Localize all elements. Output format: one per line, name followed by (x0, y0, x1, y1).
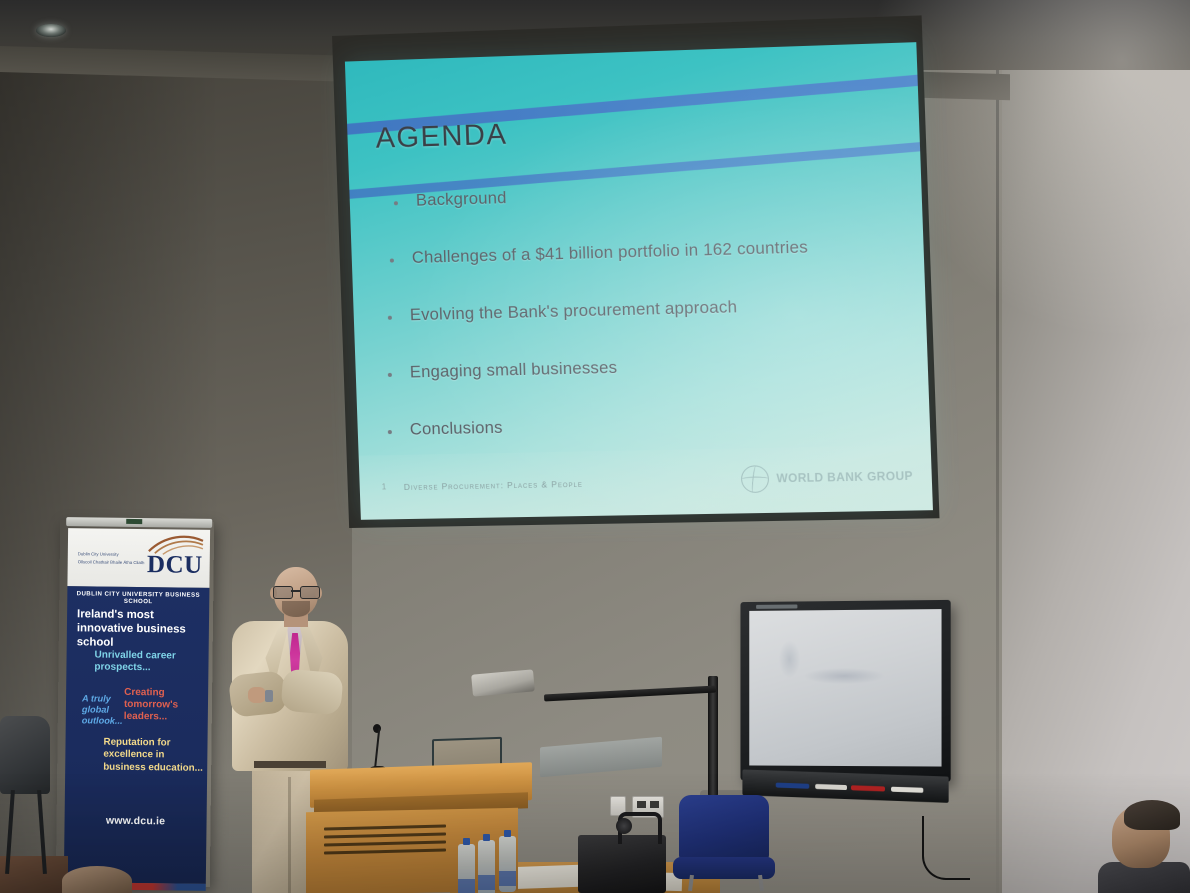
slide-title: AGENDA (375, 119, 508, 156)
banner-claim-4: Reputation for excellence in business ed… (103, 737, 203, 775)
lecture-room-photo: AGENDA Background Challenges of a $41 bi… (0, 0, 1190, 893)
whiteboard-surface[interactable] (749, 609, 941, 766)
whiteboard-brand-label (756, 604, 797, 608)
dcu-name-ga: Ollscoil Chathair Bhaile Átha Cliath (78, 558, 145, 567)
presentation-slide: AGENDA Background Challenges of a $41 bi… (345, 42, 933, 520)
whiteboard-smudge (779, 640, 801, 678)
slide-footer: 1 Diverse Procurement: Places & People W… (359, 445, 933, 520)
dcu-fullname: Dublin City University Ollscoil Chathair… (78, 550, 145, 567)
banner-claim-1: Unrivalled career prospects... (94, 650, 186, 676)
globe-icon (741, 465, 770, 493)
glasses-icon (273, 586, 319, 597)
slide-bullet-list: Background Challenges of a $41 billion p… (365, 177, 927, 478)
slide-bullet-item: Challenges of a $41 billion portfolio in… (373, 235, 919, 269)
presenter-wristwatch (265, 690, 273, 702)
slide-bullet-item: Conclusions (371, 410, 925, 440)
whiteboard-frame (740, 600, 950, 782)
dcu-wordmark: DCU (147, 551, 203, 580)
dcu-logo-panel: Dublin City University Ollscoil Chathair… (67, 528, 210, 588)
banner-top-rail (66, 517, 212, 528)
slide-bullet-item: Evolving the Bank's procurement approach (371, 294, 921, 327)
world-bank-group-logo: WORLD BANK GROUP (741, 462, 913, 493)
world-bank-group-label: WORLD BANK GROUP (776, 470, 913, 485)
whiteboard-smudge (804, 668, 884, 684)
banner-claim-3: Creating tomorrow's leaders... (124, 687, 202, 725)
projection-screen: AGENDA Background Challenges of a $41 bi… (332, 15, 940, 528)
floor-shadow (0, 773, 1190, 893)
glasses-lens-right (300, 586, 320, 599)
slide-bullet-item: Engaging small businesses (371, 352, 923, 384)
slide-footer-text: Diverse Procurement: Places & People (404, 479, 583, 492)
presenter-hand (248, 687, 266, 703)
presenter-beard (282, 601, 310, 617)
ceiling-downlight-icon (36, 24, 66, 37)
slide-page-number: 1 (382, 482, 387, 491)
glasses-bridge (291, 590, 300, 592)
glasses-lens-left (273, 586, 293, 599)
banner-headline: Ireland's most innovative business schoo… (77, 608, 204, 651)
banner-school-header: DUBLIN CITY UNIVERSITY BUSINESS SCHOOL (67, 590, 209, 606)
presenter-arm-right (280, 668, 343, 715)
